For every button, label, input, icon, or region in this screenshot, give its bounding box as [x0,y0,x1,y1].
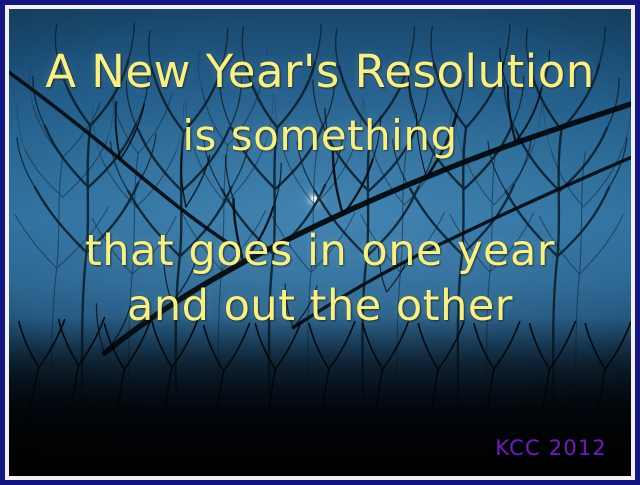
background-photo: A New Year's Resolution is something tha… [9,9,631,476]
tree-silhouette-brush [9,9,631,476]
poster-mat: A New Year's Resolution is something tha… [5,5,635,480]
poster-frame: A New Year's Resolution is something tha… [0,0,640,485]
